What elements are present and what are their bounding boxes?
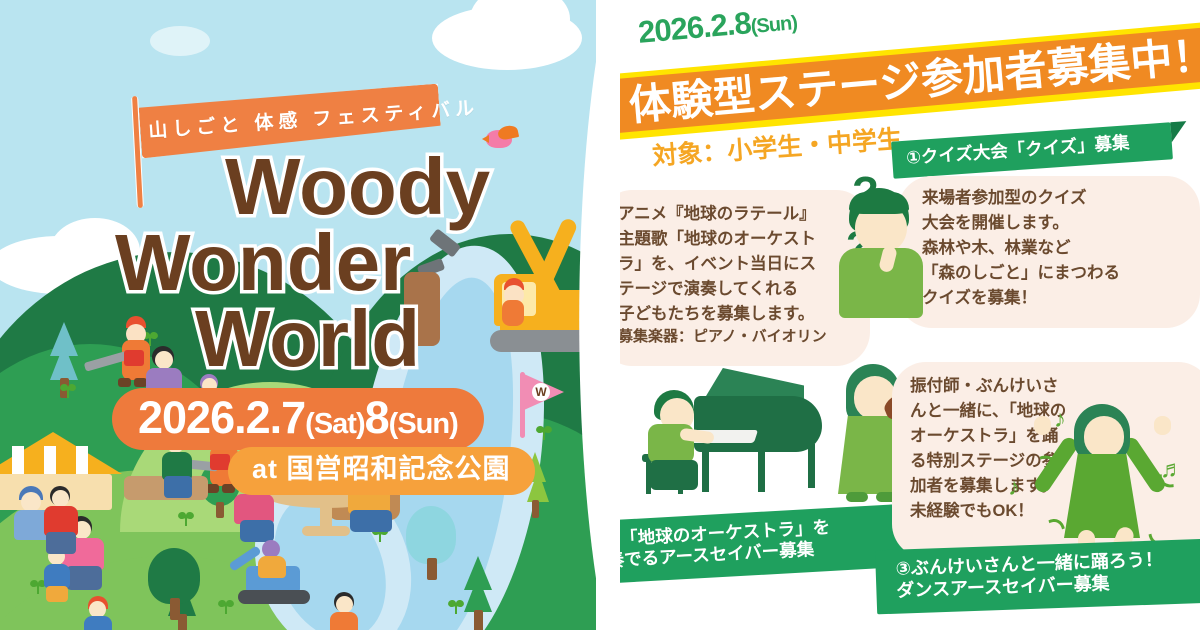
date-main: 2026.2.7	[138, 392, 305, 443]
tag-dance: ③ぶんけいさんと一緒に踊ろう！ ダンスアースセイバー募集	[875, 538, 1200, 615]
tag-quiz-line1: ①クイズ大会「クイズ」募集	[905, 130, 1158, 169]
conifer-tree	[464, 556, 492, 590]
logo-word-1: Woody	[225, 150, 490, 224]
orchestra-bubble-text: アニメ『地球のラテール』 主題歌「地球のオーケスト ラ」を、イベント当日にス テ…	[620, 202, 862, 327]
headline-date-suffix: (Sun)	[750, 12, 798, 38]
sprout-icon	[60, 384, 76, 398]
logo-word-2: Wonder	[115, 226, 411, 300]
flag-badge-label: W	[532, 383, 550, 401]
conifer-tree	[50, 322, 78, 356]
event-venue-badge: at 国営昭和記念公園	[228, 447, 535, 495]
logo-word-3: World	[195, 302, 420, 376]
festival-logo: 山しごと 体感 フェスティバル Woody Wonder World	[120, 88, 470, 358]
bird-icon	[486, 126, 520, 150]
music-note-icon: ♪	[1054, 406, 1066, 434]
cloud	[150, 26, 210, 56]
quiz-boy-character	[835, 188, 931, 318]
music-note-icon: ♪	[1008, 474, 1020, 502]
event-poster: W 山しごと 体感 フェスティバル Woody Wonder World 202…	[0, 0, 1200, 630]
date-sun: (Sun)	[389, 408, 458, 440]
illustration-panel: W 山しごと 体感 フェスティバル Woody Wonder World 202…	[0, 0, 620, 630]
date-day2: 8	[365, 392, 389, 443]
date-sat: (Sat)	[305, 408, 364, 440]
quiz-bubble-text: 来場者参加型のクイズ 大会を開催します。 森林や木、林業など 「森のしごと」にま…	[922, 186, 1200, 311]
info-panel: 2026.2.8(Sun) 体験型ステージ参加者募集中！ 対象：小学生・中学生 …	[620, 0, 1200, 630]
pianist-character	[640, 372, 840, 502]
orchestra-bubble-note: 募集楽器：ピアノ・バイオリン	[620, 327, 868, 347]
sprout-icon	[536, 426, 552, 440]
headline-date: 2026.2.8(Sun)	[637, 1, 798, 51]
sprout-icon	[178, 512, 194, 526]
event-date-badge: 2026.2.7(Sat)8(Sun)	[112, 388, 484, 450]
tag-quiz: ①クイズ大会「クイズ」募集	[891, 122, 1173, 179]
sprout-icon	[448, 600, 464, 614]
